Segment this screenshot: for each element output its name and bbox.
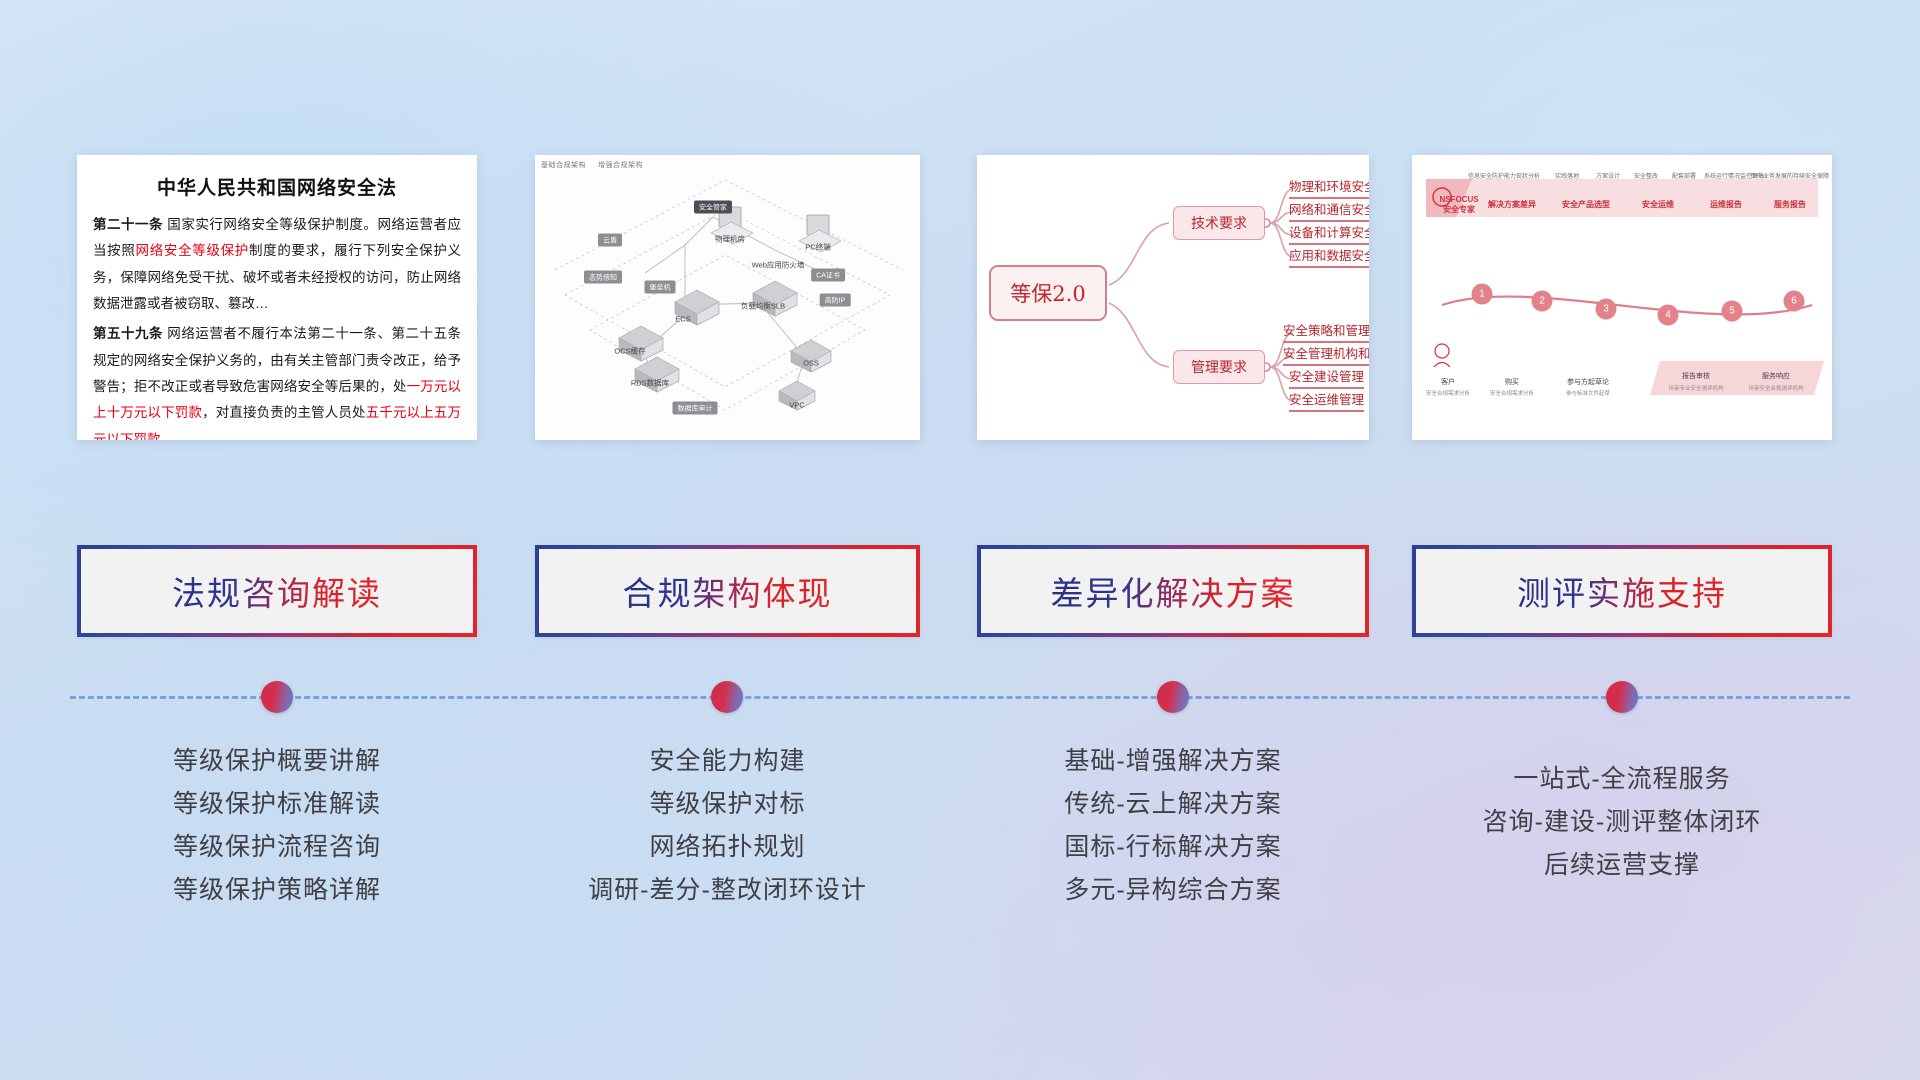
section-title-label-1: 合规架构体现 [623,567,833,615]
service-column-3: 一站式-全流程服务 咨询-建设-测评整体闭环 后续运营支撑 [1412,758,1832,887]
roadmap-footer-sub-0: 安全合规需求分析 [1426,389,1470,397]
roadmap-footer-sub-4: 评审安全合规测评机构 [1748,384,1803,392]
roadmap-top-label-2: 方案设计 [1596,171,1620,180]
mindmap-branch-technical: 技术要求 [1173,206,1265,240]
roadmap-step-2[interactable]: 2 [1532,291,1553,312]
service-item-columns: 等级保护概要讲解 等级保护标准解读 等级保护流程咨询 等级保护策略详解 安全能力… [0,740,1920,970]
law-text-2c: ，对直接负责的主管人员处 [202,405,366,420]
law-article-label-2: 第五十九条 [93,326,163,341]
section-title-box-1[interactable]: 合规架构体现 [535,545,920,637]
timeline-dot-2[interactable] [1157,681,1189,713]
mindmap-leaf-mgmt-0: 安全策略和管理制度 [1283,320,1369,343]
law-article-label-1: 第二十一条 [93,217,163,232]
mindmap-leaf-mgmt-2: 安全建设管理 [1289,366,1364,389]
roadmap-top-label-6: 面向业务发展的持续安全保障 [1751,171,1829,180]
architecture-node-baoleiji: 堡垒机 [645,281,676,294]
roadmap-top-label-4: 配套部署 [1672,171,1696,180]
roadmap-brand-label: NSFOCUS安全专家 [1436,195,1482,216]
timeline-dot-0[interactable] [261,681,293,713]
service-item-0-0: 等级保护概要讲解 [77,740,477,783]
mindmap-root-node: 等保2.0 [989,265,1107,321]
architecture-node-idc: 物理机房 [715,234,745,245]
architecture-node-yundun: 云盾 [598,234,622,247]
service-item-3-1: 咨询-建设-测评整体闭环 [1412,801,1832,844]
roadmap-footer-sub-2: 参与标准文件起草 [1566,389,1610,397]
timeline-dot-1[interactable] [711,681,743,713]
service-item-2-2: 国标-行标解决方案 [977,826,1369,869]
architecture-node-gaofangip: 高防IP [820,294,851,307]
service-item-2-1: 传统-云上解决方案 [977,783,1369,826]
card-nsfocus-roadmap[interactable]: NSFOCUS安全专家 信息安全防护能力现状分析 实践落地 方案设计 安全整改 … [1412,155,1832,440]
service-item-2-0: 基础-增强解决方案 [977,740,1369,783]
service-item-0-2: 等级保护流程咨询 [77,826,477,869]
timeline-dot-3[interactable] [1606,681,1638,713]
section-title-label-2: 差异化解决方案 [1051,567,1296,615]
service-column-1: 安全能力构建 等级保护对标 网络拓扑规划 调研-差分-整改闭环设计 [535,740,920,912]
mindmap-diagram: 等保2.0 技术要求 管理要求 物理和环境安全 网络和通信安全 设备和计算安全 … [977,155,1369,440]
architecture-node-pc: PC终端 [805,242,830,253]
architecture-node-oss: OSS [803,359,819,368]
media-card-row: 中华人民共和国网络安全法 第二十一条 国家实行网络安全等级保护制度。网络运营者应… [0,150,1920,450]
architecture-node-taishiganzhi: 态势感知 [584,271,622,284]
service-item-0-1: 等级保护标准解读 [77,783,477,826]
mindmap-branch-management: 管理要求 [1173,350,1265,384]
architecture-node-dbaudit: 数据库审计 [673,402,718,415]
section-title-label-0: 法规咨询解读 [172,567,382,615]
roadmap-footer-title-2: 参与方起草论 [1567,377,1609,387]
roadmap-step-1[interactable]: 1 [1472,284,1493,305]
section-title-row: 法规咨询解读 合规架构体现 差异化解决方案 测评实施支持 [0,545,1920,645]
service-item-0-3: 等级保护策略详解 [77,869,477,912]
timeline-dashed-line [70,696,1850,699]
law-text-1b-highlight: 网络安全等级保护 [136,243,249,258]
roadmap-step-5[interactable]: 5 [1722,301,1743,322]
section-title-box-2[interactable]: 差异化解决方案 [977,545,1369,637]
roadmap-step-3[interactable]: 3 [1596,299,1617,320]
card-cybersecurity-law[interactable]: 中华人民共和国网络安全法 第二十一条 国家实行网络安全等级保护制度。网络运营者应… [77,155,477,440]
law-paragraph-1: 第二十一条 国家实行网络安全等级保护制度。网络运营者应当按照网络安全等级保护制度… [93,212,461,317]
roadmap-footer-sub-3: 评审专业安全测评机构 [1668,384,1723,392]
service-item-3-2: 后续运营支撑 [1412,844,1832,887]
service-item-1-2: 网络拓扑规划 [535,826,920,869]
architecture-node-ocs: OCS缓存 [614,346,645,357]
mindmap-leaf-mgmt-3: 安全运维管理 [1289,389,1364,412]
service-item-1-3: 调研-差分-整改闭环设计 [535,869,920,912]
service-item-3-0: 一站式-全流程服务 [1412,758,1832,801]
mindmap-leaf-mgmt-1: 安全管理机构和人员 [1283,343,1369,366]
architecture-node-ca: CA证书 [811,269,845,282]
architecture-node-waf: Web应用防火墙 [752,260,805,271]
service-item-2-3: 多元-异构综合方案 [977,869,1369,912]
roadmap-footer-title-0: 客户 [1441,377,1455,387]
roadmap-footer-sub-1: 安全合规需求分析 [1490,389,1534,397]
roadmap-phase-0: 解决方案差异 [1488,199,1536,210]
roadmap-top-label-0: 信息安全防护能力现状分析 [1468,171,1540,180]
roadmap-phase-2: 安全运维 [1642,199,1674,210]
roadmap-phase-1: 安全产品选型 [1562,199,1610,210]
architecture-node-rds: RDS数据库 [631,378,669,389]
section-title-box-3[interactable]: 测评实施支持 [1412,545,1832,637]
law-card-title: 中华人民共和国网络安全法 [77,173,477,200]
mindmap-leaf-tech-3: 应用和数据安全 [1289,245,1369,268]
section-title-label-3: 测评实施支持 [1517,567,1727,615]
roadmap-top-label-1: 实践落地 [1555,171,1579,180]
roadmap-top-label-3: 安全整改 [1634,171,1658,180]
mindmap-leaf-tech-0: 物理和环境安全 [1289,176,1369,199]
architecture-node-ecs: ECS [675,315,690,324]
roadmap-step-6[interactable]: 6 [1784,291,1805,312]
mindmap-leaf-tech-1: 网络和通信安全 [1289,199,1369,222]
law-paragraph-2: 第五十九条 网络运营者不履行本法第二十一条、第二十五条规定的网络安全保护义务的，… [93,321,461,440]
architecture-node-anquanguanjia: 安全管家 [694,201,732,214]
law-card-body: 第二十一条 国家实行网络安全等级保护制度。网络运营者应当按照网络安全等级保护制度… [77,212,477,440]
service-column-0: 等级保护概要讲解 等级保护标准解读 等级保护流程咨询 等级保护策略详解 [77,740,477,912]
architecture-node-slb: 负载均衡SLB [741,301,785,312]
card-compliance-architecture[interactable]: 基础合规架构增强合规架构 [535,155,920,440]
roadmap-footer-title-3: 报告审核 [1682,371,1710,381]
service-item-1-1: 等级保护对标 [535,783,920,826]
mindmap-leaf-tech-2: 设备和计算安全 [1289,222,1369,245]
roadmap-step-4[interactable]: 4 [1658,305,1679,326]
roadmap-phase-4: 服务报告 [1774,199,1806,210]
roadmap-phase-3: 运维报告 [1710,199,1742,210]
architecture-node-vpc: VPC [789,401,804,410]
section-title-box-0[interactable]: 法规咨询解读 [77,545,477,637]
service-item-1-0: 安全能力构建 [535,740,920,783]
architecture-diagram: 基础合规架构增强合规架构 [535,155,920,440]
timeline [0,667,1920,727]
roadmap-footer-title-4: 服务响应 [1762,371,1790,381]
roadmap-footer-title-1: 购买 [1505,377,1519,387]
architecture-diagram-svg [535,155,920,440]
roadmap-diagram: NSFOCUS安全专家 信息安全防护能力现状分析 实践落地 方案设计 安全整改 … [1412,155,1832,440]
card-dengbao-mindmap[interactable]: 等保2.0 技术要求 管理要求 物理和环境安全 网络和通信安全 设备和计算安全 … [977,155,1369,440]
service-column-2: 基础-增强解决方案 传统-云上解决方案 国标-行标解决方案 多元-异构综合方案 [977,740,1369,912]
